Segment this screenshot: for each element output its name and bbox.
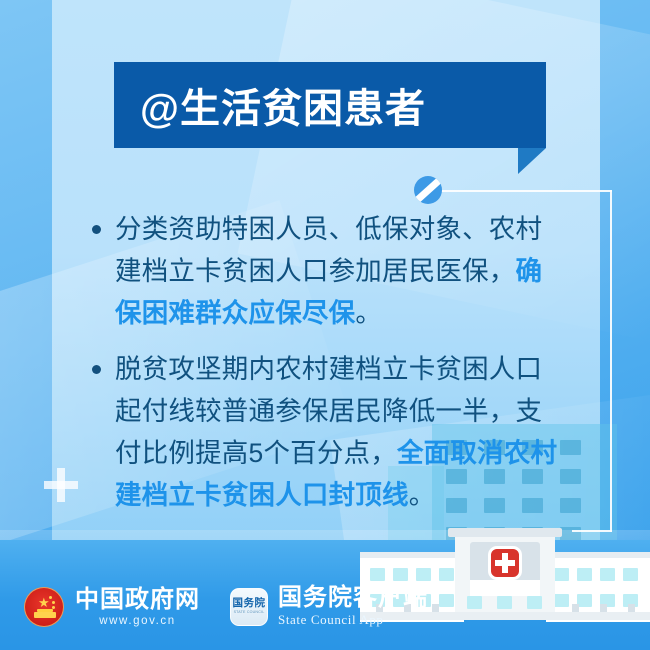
hospital-signboard <box>470 580 540 596</box>
gov-name: 中国政府网 <box>75 587 200 613</box>
app-name-cn: 国务院客户端 <box>278 585 428 611</box>
gov-text-block: 中国政府网 www.gov.cn <box>75 587 200 627</box>
infographic-poster: @生活贫困患者 分类资助特困人员、低保对象、农村建档立卡贫困人口参加居民医保，确… <box>0 0 650 650</box>
state-council-app-icon: 国务院 STATE COUNCIL <box>230 588 268 626</box>
national-emblem-icon: ★ <box>24 587 64 627</box>
bullet-text: 脱贫攻坚期内农村建档立卡贫困人口起付线较普通参保居民降低一半，支付比例提高5个百… <box>115 348 562 516</box>
circle-slash-icon <box>414 176 442 204</box>
bullet-list: 分类资助特困人员、低保对象、农村建档立卡贫困人口参加居民医保，确保困难群众应保尽… <box>92 208 562 530</box>
title-banner: @生活贫困患者 <box>114 62 546 148</box>
list-item: 分类资助特困人员、低保对象、农村建档立卡贫困人口参加居民医保，确保困难群众应保尽… <box>92 208 562 334</box>
gov-url: www.gov.cn <box>75 615 200 627</box>
hospital-roof <box>448 528 562 537</box>
app-icon-label-en: STATE COUNCIL <box>234 610 265 615</box>
frame-line-top <box>432 190 612 192</box>
bullet-dot-icon <box>92 225 101 234</box>
footer: ★ 中国政府网 www.gov.cn 国务院 STATE COUNCIL 国务院… <box>24 585 428 628</box>
red-cross-icon <box>488 546 522 580</box>
gov-logo-group[interactable]: ★ 中国政府网 www.gov.cn <box>24 587 230 627</box>
app-text-block: 国务院客户端 State Council App <box>278 585 428 628</box>
banner-ribbon-tail <box>518 148 546 174</box>
frame-line-right <box>610 190 612 532</box>
app-icon-label-cn: 国务院 <box>233 598 266 609</box>
bullet-1-segment-3: 。 <box>355 298 382 328</box>
bullet-text: 分类资助特困人员、低保对象、农村建档立卡贫困人口参加居民医保，确保困难群众应保尽… <box>115 208 562 334</box>
list-item: 脱贫攻坚期内农村建档立卡贫困人口起付线较普通参保居民降低一半，支付比例提高5个百… <box>92 348 562 516</box>
banner-title-text: @生活贫困患者 <box>140 76 426 134</box>
plus-decoration-icon <box>44 468 78 502</box>
bullet-1-segment-1: 分类资助特困人员、低保对象、农村建档立卡贫困人口参加居民医保， <box>115 214 542 286</box>
bullet-dot-icon <box>92 365 101 374</box>
bullet-2-segment-3: 。 <box>409 480 436 510</box>
app-name-en: State Council App <box>278 612 428 628</box>
state-council-app-group[interactable]: 国务院 STATE COUNCIL 国务院客户端 State Council A… <box>230 585 428 628</box>
